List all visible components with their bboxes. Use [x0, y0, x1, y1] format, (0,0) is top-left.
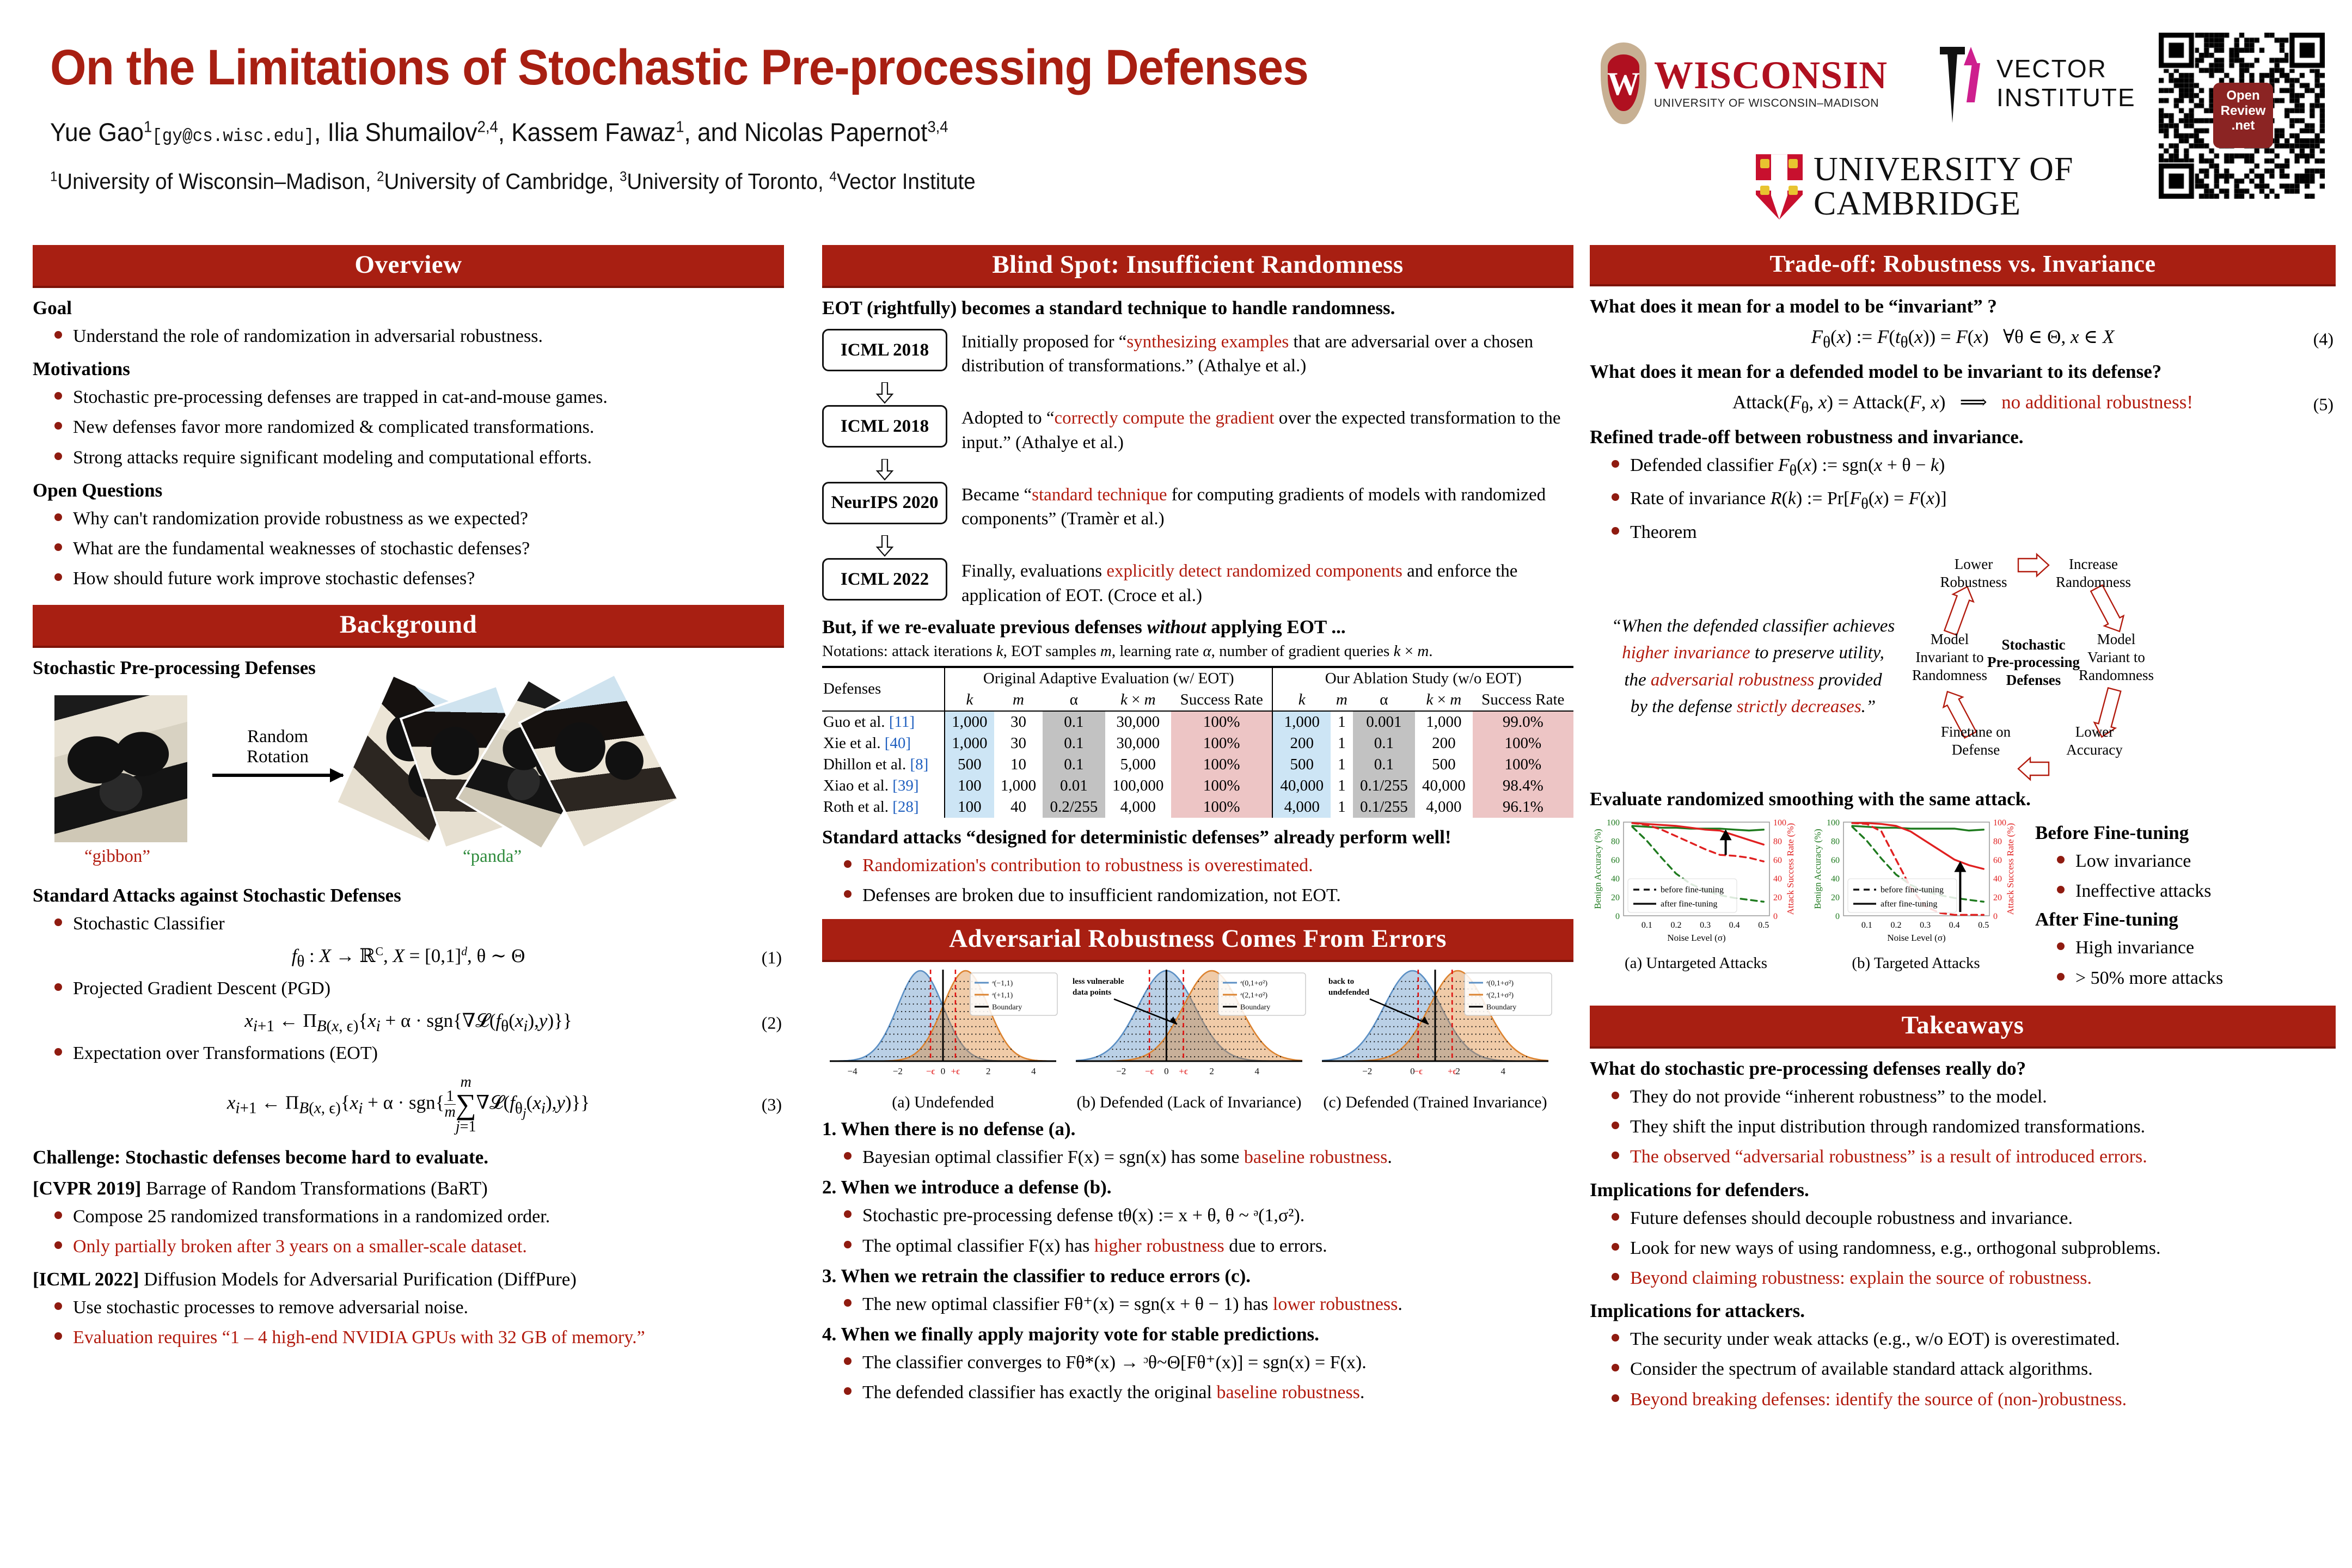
- table-cell: 100,000: [1105, 775, 1171, 797]
- down-arrow-icon: [822, 458, 947, 482]
- table-row: Guo et al. [11]1,000300.130,000100%1,000…: [822, 711, 1573, 733]
- table-cell: 200: [1272, 733, 1331, 754]
- motivations-label: Motivations: [33, 358, 784, 380]
- cycle-label-top-left: LowerRobustness: [1922, 555, 2025, 591]
- table-notations: Notations: attack iterations k, EOT samp…: [822, 642, 1573, 660]
- svg-text:−ϵ: −ϵ: [926, 1066, 935, 1076]
- svg-text:20: 20: [1611, 893, 1620, 902]
- svg-text:0.4: 0.4: [1729, 921, 1740, 930]
- table-cell: 96.1%: [1473, 797, 1573, 818]
- table-cell-defense: Xie et al. [40]: [822, 733, 945, 754]
- timeline-row: ICML 2018Initially proposed for “synthes…: [822, 329, 1573, 378]
- svg-text:40: 40: [1831, 874, 1840, 884]
- svg-text:ᵊ(−1,1): ᵊ(−1,1): [992, 979, 1013, 988]
- timeline-description: Finally, evaluations explicitly detect r…: [961, 558, 1573, 607]
- list-item: The classifier converges to Fθ*(x) → ᵓθ~…: [844, 1350, 1573, 1375]
- table-column-header: Success Rate: [1473, 689, 1573, 711]
- table-row: Xie et al. [40]1,000300.130,000100%20010…: [822, 733, 1573, 754]
- equation-1: fθ : X → ℝC, X = [0,1]d, θ ∼ Θ (1): [33, 945, 784, 971]
- timeline-row: ICML 2018Adopted to “correctly compute t…: [822, 405, 1573, 454]
- svg-text:20: 20: [1831, 893, 1840, 902]
- equation-2: xi+1 ← ΠB(x, ϵ){xi + α · sgn{∇𝓛(fθ(xi),y…: [33, 1010, 784, 1036]
- table-cell: 40: [994, 797, 1043, 818]
- table-cell: 99.0%: [1473, 711, 1573, 733]
- svg-text:100: 100: [1827, 818, 1840, 828]
- table-column-header: α: [1043, 689, 1105, 711]
- blindspot-conclusion-list: Randomization's contribution to robustne…: [822, 853, 1573, 908]
- svg-text:4: 4: [1501, 1066, 1506, 1076]
- table-cell: 1: [1331, 733, 1353, 754]
- list-item: The observed “adversarial robustness” is…: [1612, 1144, 2336, 1169]
- list-item: The security under weak attacks (e.g., w…: [1612, 1327, 2336, 1352]
- cambridge-line-1: UNIVERSITY OF: [1814, 152, 2073, 187]
- svg-text:2: 2: [1209, 1066, 1214, 1076]
- takeaways-question: What do stochastic pre-processing defens…: [1590, 1058, 2336, 1080]
- svg-text:0.1: 0.1: [1861, 921, 1872, 930]
- svg-text:ᵊ(+1,1): ᵊ(+1,1): [992, 991, 1013, 1000]
- cambridge-shield-icon: [1756, 154, 1803, 219]
- list-item: > 50% more attacks: [2057, 966, 2223, 991]
- evaluate-smoothing-heading: Evaluate randomized smoothing with the s…: [1590, 788, 2336, 810]
- motivations-list: Stochastic pre-processing defenses are t…: [33, 385, 784, 470]
- table-cell: 0.2/255: [1043, 797, 1105, 818]
- error-step-title: 4. When we finally apply majority vote f…: [822, 1324, 1573, 1345]
- defenders-title: Implications for defenders.: [1590, 1179, 2336, 1201]
- svg-text:4: 4: [1255, 1066, 1260, 1076]
- list-item: The defended classifier has exactly the …: [844, 1380, 1573, 1405]
- column-middle: Blind Spot: Insufficient Randomness EOT …: [822, 245, 1573, 1411]
- cambridge-line-2: CAMBRIDGE: [1814, 187, 2073, 221]
- section-header-takeaways: Takeaways: [1590, 1006, 2336, 1049]
- svg-text:Boundary: Boundary: [1240, 1003, 1270, 1012]
- svg-text:4: 4: [1031, 1066, 1036, 1076]
- cycle-label-bot-right: LowerAccuracy: [2043, 723, 2146, 759]
- panda-original-image: [54, 695, 187, 842]
- theorem-and-cycle: “When the defended classifier achieves h…: [1590, 550, 2336, 784]
- section-header-overview: Overview: [33, 245, 784, 288]
- dist-caption-b: (b) Defended (Lack of Invariance): [1068, 1093, 1310, 1112]
- open-questions-label: Open Questions: [33, 480, 784, 501]
- svg-text:80: 80: [1831, 837, 1840, 846]
- svg-text:−ϵ: −ϵ: [1145, 1066, 1154, 1076]
- svg-text:100: 100: [1993, 818, 2006, 828]
- author-email: [gy@cs.wisc.edu]: [152, 126, 314, 146]
- table-cell: 0.1: [1353, 733, 1415, 754]
- error-step-list: The new optimal classifier Fθ⁺(x) = sgn(…: [822, 1292, 1573, 1317]
- list-item: Defenses are broken due to insufficient …: [844, 883, 1573, 908]
- table-cell: 0.1/255: [1353, 797, 1415, 818]
- list-item: Why can't randomization provide robustne…: [54, 506, 784, 531]
- logo-group: W WISCONSIN UNIVERSITY OF WISCONSIN–MADI…: [1568, 27, 2330, 234]
- svg-text:0.1: 0.1: [1641, 921, 1652, 930]
- equation-1-number: (1): [762, 948, 782, 968]
- table-cell: 10: [994, 754, 1043, 775]
- error-steps: 1. When there is no defense (a).Bayesian…: [822, 1118, 1573, 1405]
- table-column-header: m: [994, 689, 1043, 711]
- svg-text:0: 0: [1993, 912, 1998, 921]
- svg-text:ᵊ(2,1+σ²): ᵊ(2,1+σ²): [1240, 991, 1267, 1000]
- svg-text:+ϵ: +ϵ: [951, 1066, 960, 1076]
- table-group-header-row: Defenses Original Adaptive Evaluation (w…: [822, 667, 1573, 689]
- vector-institute-logo: VECTOR INSTITUTE: [1935, 42, 2136, 124]
- table-column-header: Success Rate: [1171, 689, 1272, 711]
- section-header-blind-spot: Blind Spot: Insufficient Randomness: [822, 245, 1573, 288]
- table-cell: 100%: [1171, 711, 1272, 733]
- svg-text:0: 0: [1164, 1066, 1169, 1076]
- svg-text:Boundary: Boundary: [992, 1003, 1022, 1012]
- table-cell: 40,000: [1272, 775, 1331, 797]
- timeline-venue-box: NeurIPS 2020: [822, 482, 947, 524]
- table-cell: 0.1: [1353, 754, 1415, 775]
- page-title: On the Limitations of Stochastic Pre-pro…: [50, 39, 1417, 96]
- table-column-header: k × m: [1105, 689, 1171, 711]
- wisconsin-subtitle: UNIVERSITY OF WISCONSIN–MADISON: [1654, 97, 1888, 110]
- challenge-heading: Challenge: Stochastic defenses become ha…: [33, 1147, 784, 1168]
- table-cell-defense: Guo et al. [11]: [822, 711, 945, 733]
- table-cell: 500: [945, 754, 994, 775]
- svg-text:Benign Accuracy (%): Benign Accuracy (%): [1812, 829, 1823, 909]
- error-step-list: Stochastic pre-processing defense tθ(x) …: [822, 1203, 1573, 1258]
- goal-list: Understand the role of randomization in …: [33, 324, 784, 349]
- quote-line-4: by the defense strictly decreases.”: [1595, 694, 1911, 721]
- tradeoff-bullets: Defended classifier Fθ(x) := sgn(x + θ −…: [1590, 453, 2336, 545]
- table-cell: 1: [1331, 797, 1353, 818]
- attackers-title: Implications for attackers.: [1590, 1300, 2336, 1322]
- line-chart-caption-a: (a) Untargeted Attacks: [1590, 954, 1802, 972]
- list-item: New defenses favor more randomized & com…: [54, 415, 784, 440]
- down-arrow-icon: [822, 534, 947, 558]
- list-item: Future defenses should decouple robustne…: [1612, 1206, 2336, 1231]
- cambridge-logo: UNIVERSITY OF CAMBRIDGE: [1756, 152, 2073, 221]
- svg-text:0.5: 0.5: [1758, 921, 1769, 930]
- error-step-title: 3. When we retrain the classifier to red…: [822, 1265, 1573, 1287]
- pgd-list: Projected Gradient Descent (PGD): [33, 976, 784, 1001]
- svg-text:40: 40: [1611, 874, 1620, 884]
- wisconsin-crest-icon: W: [1601, 42, 1646, 124]
- cycle-label-bot-left: Finetune onDefense: [1924, 723, 2028, 759]
- equation-4-number: (4): [2313, 329, 2333, 349]
- standard-attacks-heading: Standard attacks “designed for determini…: [822, 826, 1573, 848]
- author-3: , Kassem Fawaz: [498, 118, 676, 146]
- table-cell: 30,000: [1105, 733, 1171, 754]
- svg-text:0.4: 0.4: [1949, 921, 1960, 930]
- background-sub-1: Stochastic Pre-processing Defenses: [33, 657, 784, 679]
- list-item: Low invariance: [2057, 849, 2223, 874]
- list-item: High invariance: [2057, 935, 2223, 960]
- after-fine-tuning-list: High invariance> 50% more attacks: [2035, 935, 2223, 990]
- vector-arrow-icon: [1935, 42, 1988, 124]
- table-cell: 98.4%: [1473, 775, 1573, 797]
- section-header-background: Background: [33, 605, 784, 648]
- svg-text:80: 80: [1611, 837, 1620, 846]
- svg-text:40: 40: [1993, 874, 2002, 884]
- tradeoff-question-1: What does it mean for a model to be “inv…: [1590, 296, 2336, 317]
- equation-3: xi+1 ← ΠB(x, ϵ){xi + α · sgn{1mm∑j=1∇𝓛(f…: [33, 1075, 784, 1134]
- dist-chart-b: −2−ϵ0+ϵ24ᵊ(0,1+σ²)ᵊ(2,1+σ²)Boundaryless …: [1068, 965, 1310, 1088]
- random-rotation-figure: Random Rotation “gibbon” “panda”: [33, 688, 784, 851]
- table-cell: 100%: [1473, 754, 1573, 775]
- table-cell: 100%: [1171, 733, 1272, 754]
- vector-line-1: VECTOR: [1996, 54, 2136, 83]
- svg-text:−ϵ: −ϵ: [1414, 1066, 1423, 1076]
- svg-text:0.3: 0.3: [1700, 921, 1711, 930]
- svg-text:100: 100: [1773, 818, 1786, 828]
- table-column-header: k × m: [1415, 689, 1472, 711]
- poster-root: On the Limitations of Stochastic Pre-pro…: [0, 0, 2352, 1568]
- equation-5-highlight: no additional robustness!: [2001, 391, 2193, 413]
- svg-text:40: 40: [1773, 874, 1782, 884]
- section-header-errors: Adversarial Robustness Comes From Errors: [822, 919, 1573, 962]
- svg-text:0.5: 0.5: [1978, 921, 1989, 930]
- takeaways-question-list: They do not provide “inherent robustness…: [1590, 1085, 2336, 1170]
- svg-text:80: 80: [1993, 837, 2002, 846]
- line-chart-caption-b: (b) Targeted Attacks: [1810, 954, 2022, 972]
- eot-lead-text: EOT (rightfully) becomes a standard tech…: [822, 297, 1573, 319]
- table-cell: 1: [1331, 775, 1353, 797]
- tradeoff-question-2: What does it mean for a defended model t…: [1590, 361, 2336, 383]
- svg-text:before fine-tuning: before fine-tuning: [1661, 885, 1724, 895]
- table-cell: 0.01: [1043, 775, 1105, 797]
- table-cell: 0.1: [1043, 754, 1105, 775]
- table-row: Dhillon et al. [8]500100.15,000100%50010…: [822, 754, 1573, 775]
- list-item: Compose 25 randomized transformations in…: [54, 1204, 784, 1229]
- cycle-label-top-right: IncreaseRandomness: [2042, 555, 2145, 591]
- svg-text:−2: −2: [1362, 1066, 1372, 1076]
- table-cell: 100: [945, 775, 994, 797]
- table-group-left: Original Adaptive Evaluation (w/ EOT): [945, 667, 1272, 689]
- equation-4: Fθ(x) := F(tθ(x)) = F(x) ∀θ ∈ Θ, x ∈ X (…: [1590, 326, 2336, 352]
- defenders-list: Future defenses should decouple robustne…: [1590, 1206, 2336, 1291]
- table-cell-defense: Xiao et al. [39]: [822, 775, 945, 797]
- tradeoff-question-3: Refined trade-off between robustness and…: [1590, 426, 2336, 448]
- dist-caption-a: (a) Undefended: [822, 1093, 1064, 1112]
- list-item: How should future work improve stochasti…: [54, 566, 784, 591]
- table-cell: 500: [1415, 754, 1472, 775]
- table-cell: 100: [945, 797, 994, 818]
- theorem-quote: “When the defended classifier achieves h…: [1590, 613, 1916, 721]
- error-step-title: 2. When we introduce a defense (b).: [822, 1177, 1573, 1198]
- cvpr-text: Barrage of Random Transformations (BaRT): [141, 1178, 488, 1199]
- svg-text:60: 60: [1773, 856, 1782, 865]
- table-cell: 30: [994, 711, 1043, 733]
- openreview-qr-code[interactable]: Open Review .net: [2159, 33, 2325, 199]
- cvpr-list: Compose 25 randomized transformations in…: [33, 1204, 784, 1259]
- svg-text:−4: −4: [848, 1066, 858, 1076]
- list-item: Randomization's contribution to robustne…: [844, 853, 1573, 878]
- author-line: Yue Gao1[gy@cs.wisc.edu], Ilia Shumailov…: [50, 117, 1442, 147]
- svg-text:ᵊ(2,1+σ²): ᵊ(2,1+σ²): [1486, 991, 1514, 1000]
- svg-text:0: 0: [941, 1066, 946, 1076]
- table-column-header: k: [945, 689, 994, 711]
- svg-text:back to: back to: [1328, 977, 1354, 986]
- author-2: , Ilia Shumailov: [314, 118, 477, 146]
- table-cell: 1: [1331, 754, 1353, 775]
- arrow-label-line-2: Rotation: [212, 747, 343, 767]
- quote-line-1: “When the defended classifier achieves: [1595, 613, 1911, 640]
- svg-text:undefended: undefended: [1328, 988, 1370, 997]
- table-cell: 100%: [1171, 775, 1272, 797]
- attackers-list: The security under weak attacks (e.g., w…: [1590, 1327, 2336, 1412]
- svg-text:0.3: 0.3: [1920, 921, 1931, 930]
- cvpr-heading: [CVPR 2019] Barrage of Random Transforma…: [33, 1178, 784, 1199]
- list-item: Evaluation requires “1 – 4 high-end NVID…: [54, 1325, 784, 1350]
- svg-text:before fine-tuning: before fine-tuning: [1881, 885, 1944, 895]
- svg-text:after fine-tuning: after fine-tuning: [1881, 899, 1937, 909]
- svg-text:0.2: 0.2: [1890, 921, 1901, 930]
- dist-caption-c: (c) Defended (Trained Invariance): [1314, 1093, 1556, 1112]
- svg-text:2: 2: [1455, 1066, 1460, 1076]
- dist-chart-c: −20−ϵ+ϵ24ᵊ(0,1+σ²)ᵊ(2,1+σ²)Boundaryback …: [1314, 965, 1556, 1088]
- before-fine-tuning-title: Before Fine-tuning: [2035, 822, 2223, 844]
- quote-line-3: the adversarial robustness provided: [1595, 667, 1911, 694]
- list-item: What are the fundamental weaknesses of s…: [54, 536, 784, 561]
- table-column-header: m: [1331, 689, 1353, 711]
- poster-header: On the Limitations of Stochastic Pre-pro…: [0, 0, 2352, 234]
- svg-text:Noise Level (σ): Noise Level (σ): [1887, 933, 1945, 943]
- cvpr-tag: [CVPR 2019]: [33, 1178, 141, 1199]
- vector-line-2: INSTITUTE: [1996, 83, 2136, 112]
- table-col-defenses: Defenses: [822, 667, 945, 711]
- bullet-theorem: Theorem: [1612, 520, 2336, 545]
- error-step-list: Bayesian optimal classifier F(x) = sgn(x…: [822, 1145, 1573, 1170]
- table-cell: 200: [1415, 733, 1472, 754]
- table-cell-defense: Dhillon et al. [8]: [822, 754, 945, 775]
- timeline-venue-box: ICML 2022: [822, 558, 947, 601]
- list-item: They shift the input distribution throug…: [1612, 1114, 2336, 1140]
- svg-text:ᵊ(0,1+σ²): ᵊ(0,1+σ²): [1486, 979, 1514, 988]
- list-item: Look for new ways of using randomness, e…: [1612, 1236, 2336, 1261]
- svg-text:20: 20: [1993, 893, 2002, 902]
- svg-text:0.2: 0.2: [1670, 921, 1681, 930]
- wisconsin-wordmark: WISCONSIN: [1654, 57, 1888, 94]
- list-item: Strong attacks require significant model…: [54, 445, 784, 470]
- list-item: Understand the role of randomization in …: [54, 324, 784, 349]
- equation-5: Attack(Fθ, x) = Attack(F, x) ⟹ no additi…: [1590, 391, 2336, 417]
- table-cell: 4,000: [1272, 797, 1331, 818]
- before-fine-tuning-list: Low invarianceIneffective attacks: [2035, 849, 2223, 904]
- list-item: Bayesian optimal classifier F(x) = sgn(x…: [844, 1145, 1573, 1170]
- svg-text:2: 2: [986, 1066, 991, 1076]
- table-cell: 0.1: [1043, 733, 1105, 754]
- fine-tuning-notes: Before Fine-tuning Low invarianceIneffec…: [2035, 814, 2223, 996]
- list-item: Only partially broken after 3 years on a…: [54, 1234, 784, 1259]
- table-cell: 1,000: [1415, 711, 1472, 733]
- line-chart-untargeted: 0020204040606080801001000.10.20.30.40.5N…: [1590, 814, 1802, 951]
- column-right: Trade-off: Robustness vs. Invariance Wha…: [1590, 245, 2336, 1417]
- cycle-diagram: LowerRobustness IncreaseRandomness Model…: [1916, 550, 2151, 784]
- table-column-header: k: [1272, 689, 1331, 711]
- bullet-defended-classifier: Defended classifier Fθ(x) := sgn(x + θ −…: [1612, 453, 2336, 481]
- bullet-stochastic-classifier: Stochastic Classifier: [54, 911, 784, 936]
- cycle-label-mid-right: ModelVariant toRandomness: [2065, 630, 2168, 684]
- svg-text:ᵊ(0,1+σ²): ᵊ(0,1+σ²): [1240, 979, 1267, 988]
- table-cell: 1: [1331, 711, 1353, 733]
- table-row: Roth et al. [28]100400.2/2554,000100%4,0…: [822, 797, 1573, 818]
- table-cell: 0.1/255: [1353, 775, 1415, 797]
- dist-chart-a: −4−2−ϵ0+ϵ24ᵊ(−1,1)ᵊ(+1,1)Boundary: [822, 965, 1064, 1088]
- table-cell-defense: Roth et al. [28]: [822, 797, 945, 818]
- random-rotation-arrow: Random Rotation: [212, 727, 343, 777]
- list-item: Use stochastic processes to remove adver…: [54, 1295, 784, 1320]
- goal-label: Goal: [33, 297, 784, 319]
- distribution-figures: −4−2−ϵ0+ϵ24ᵊ(−1,1)ᵊ(+1,1)Boundary (a) Un…: [822, 965, 1573, 1112]
- svg-text:Noise Level (σ): Noise Level (σ): [1667, 933, 1725, 943]
- table-body: Guo et al. [11]1,000300.130,000100%1,000…: [822, 711, 1573, 818]
- list-item: Ineffective attacks: [2057, 879, 2223, 904]
- table-cell: 30,000: [1105, 711, 1171, 733]
- openreview-badge: Open Review .net: [2213, 83, 2273, 148]
- list-item: Beyond breaking defenses: identify the s…: [1612, 1387, 2336, 1412]
- timeline-description: Initially proposed for “synthesizing exa…: [961, 329, 1573, 378]
- label-gibbon: “gibbon”: [84, 847, 150, 867]
- icml-text: Diffusion Models for Adversarial Purific…: [139, 1269, 577, 1290]
- svg-text:−2: −2: [1116, 1066, 1126, 1076]
- after-fine-tuning-title: After Fine-tuning: [2035, 909, 2223, 930]
- timeline-venue-box: ICML 2018: [822, 329, 947, 371]
- table-cell: 4,000: [1105, 797, 1171, 818]
- list-item: They do not provide “inherent robustness…: [1612, 1085, 2336, 1110]
- bullet-eot: Expectation over Transformations (EOT): [54, 1041, 784, 1066]
- qr-badge-line-3: .net: [2213, 118, 2273, 133]
- table-cell: 5,000: [1105, 754, 1171, 775]
- svg-text:less vulnerable: less vulnerable: [1073, 977, 1124, 986]
- list-item: Consider the spectrum of available stand…: [1612, 1357, 2336, 1382]
- eot-list: Expectation over Transformations (EOT): [33, 1041, 784, 1066]
- svg-text:Attack Success Rate (%): Attack Success Rate (%): [1785, 823, 1796, 915]
- svg-text:+ϵ: +ϵ: [1179, 1066, 1188, 1076]
- bullet-rate-invariance: Rate of invariance R(k) := Pr[Fθ(x) = F(…: [1612, 486, 2336, 514]
- label-panda: “panda”: [463, 847, 522, 867]
- svg-text:data points: data points: [1073, 988, 1111, 997]
- column-left: Overview Goal Understand the role of ran…: [33, 245, 784, 1355]
- table-cell: 0.1: [1043, 711, 1105, 733]
- list-item: The new optimal classifier Fθ⁺(x) = sgn(…: [844, 1292, 1573, 1317]
- smoothing-charts-row: 0020204040606080801001000.10.20.30.40.5N…: [1590, 814, 2336, 996]
- table-cell: 40,000: [1415, 775, 1472, 797]
- table-row: Xiao et al. [39]1001,0000.01100,000100%4…: [822, 775, 1573, 797]
- error-step-list: The classifier converges to Fθ*(x) → ᵓθ~…: [822, 1350, 1573, 1405]
- timeline-description: Adopted to “correctly compute the gradie…: [961, 405, 1573, 454]
- background-sub-2: Standard Attacks against Stochastic Defe…: [33, 885, 784, 906]
- affiliation-line: 1University of Wisconsin–Madison, 2Unive…: [50, 169, 1442, 194]
- list-item: Stochastic pre-processing defenses are t…: [54, 385, 784, 410]
- table-cell: 500: [1272, 754, 1331, 775]
- equation-3-number: (3): [762, 1094, 782, 1114]
- bullet-pgd: Projected Gradient Descent (PGD): [54, 976, 784, 1001]
- svg-text:−2: −2: [893, 1066, 903, 1076]
- attacks-list: Stochastic Classifier: [33, 911, 784, 936]
- author-1: Yue Gao: [50, 118, 144, 146]
- table-cell: 0.001: [1353, 711, 1415, 733]
- equation-2-number: (2): [762, 1013, 782, 1033]
- arrow-label-line-1: Random: [212, 727, 343, 747]
- svg-text:Boundary: Boundary: [1486, 1003, 1516, 1012]
- svg-text:60: 60: [1993, 856, 2002, 865]
- table-cell: 30: [994, 733, 1043, 754]
- icml-list: Use stochastic processes to remove adver…: [33, 1295, 784, 1350]
- list-item: Beyond claiming robustness: explain the …: [1612, 1266, 2336, 1291]
- line-chart-targeted: 0020204040606080801001000.10.20.30.40.5N…: [1810, 814, 2022, 951]
- wisconsin-logo: W WISCONSIN UNIVERSITY OF WISCONSIN–MADI…: [1601, 42, 1888, 124]
- svg-text:0: 0: [1773, 912, 1778, 921]
- quote-line-2: higher invariance to preserve utility,: [1595, 640, 1911, 667]
- qr-badge-line-2: Review: [2213, 103, 2273, 119]
- svg-text:80: 80: [1773, 837, 1782, 846]
- svg-text:Attack Success Rate (%): Attack Success Rate (%): [2005, 823, 2016, 915]
- icml-heading: [ICML 2022] Diffusion Models for Adversa…: [33, 1269, 784, 1290]
- svg-text:0: 0: [1835, 912, 1840, 921]
- open-questions-list: Why can't randomization provide robustne…: [33, 506, 784, 592]
